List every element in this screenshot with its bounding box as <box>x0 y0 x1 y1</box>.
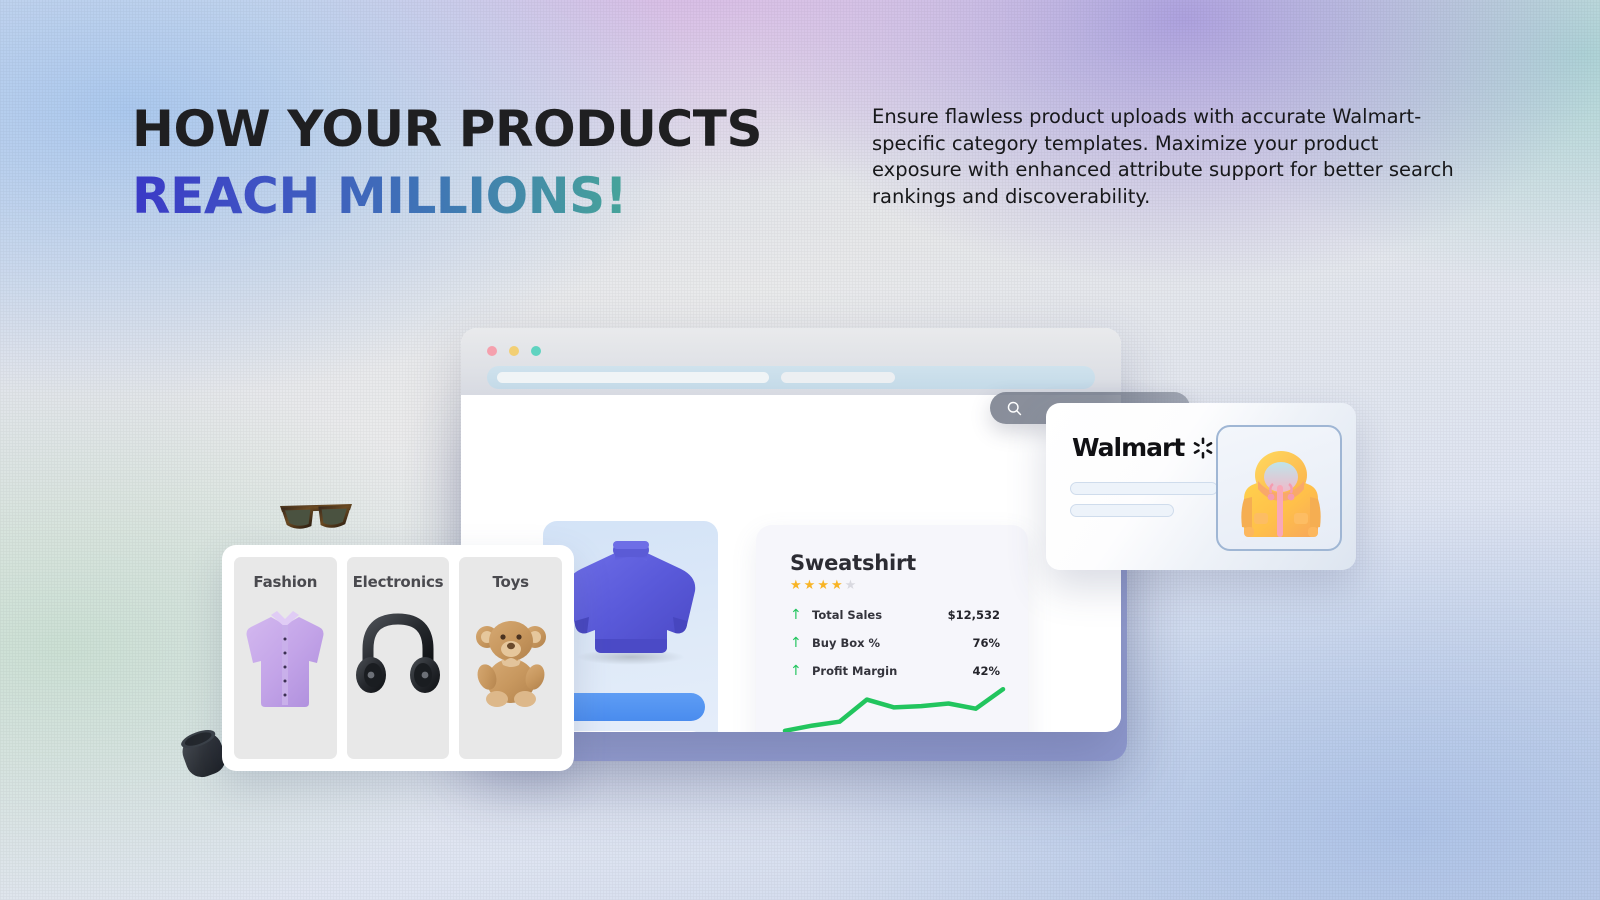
metric-row: ↑ Total Sales $12,532 <box>790 607 1000 623</box>
walmart-logo: Walmart <box>1072 433 1214 462</box>
category-label: Toys <box>492 573 528 591</box>
walmart-spark-icon <box>1192 437 1214 459</box>
metric-value: $12,532 <box>948 608 1000 622</box>
category-tile-toys[interactable]: Toys <box>459 557 562 759</box>
illustration-scene: Sweatshirt ★★★★★ ↑ Total Sales $12,532 ↑… <box>0 0 1600 900</box>
star-filled-2: ★ <box>804 577 818 592</box>
star-empty-5: ★ <box>845 577 859 592</box>
teddy-bear-image <box>465 601 557 711</box>
address-bar-secondary-segment <box>781 372 895 383</box>
skeleton-line-1 <box>1070 482 1218 495</box>
primary-cta-bar[interactable] <box>557 693 705 721</box>
metric-row: ↑ Buy Box % 76% <box>790 635 1000 651</box>
secondary-cta-bar[interactable] <box>557 731 705 732</box>
metric-label: Buy Box % <box>812 636 972 650</box>
address-bar-url-segment <box>497 372 769 383</box>
window-controls[interactable] <box>487 346 541 356</box>
metric-label: Profit Margin <box>812 664 972 678</box>
walmart-wordmark: Walmart <box>1072 433 1184 462</box>
arrow-up-icon: ↑ <box>790 663 812 679</box>
category-label: Electronics <box>353 573 444 591</box>
product-name: Sweatshirt <box>790 551 1000 575</box>
category-tile-fashion[interactable]: Fashion <box>234 557 337 759</box>
sunglasses-icon <box>276 494 356 536</box>
minimize-window-dot[interactable] <box>509 346 519 356</box>
metrics-list: ↑ Total Sales $12,532 ↑ Buy Box % 76% ↑ … <box>790 607 1000 679</box>
browser-chrome <box>461 328 1121 395</box>
metric-value: 42% <box>972 664 1000 678</box>
yellow-raincoat-image <box>1218 427 1342 551</box>
arrow-up-icon: ↑ <box>790 607 812 623</box>
category-label: Fashion <box>253 573 317 591</box>
arrow-up-icon: ↑ <box>790 635 812 651</box>
sales-trend-chart <box>780 679 1008 732</box>
product-stats-card: Sweatshirt ★★★★★ ↑ Total Sales $12,532 ↑… <box>756 525 1028 732</box>
metric-row: ↑ Profit Margin 42% <box>790 663 1000 679</box>
address-bar[interactable] <box>487 366 1095 389</box>
metric-label: Total Sales <box>812 608 948 622</box>
maximize-window-dot[interactable] <box>531 346 541 356</box>
close-window-dot[interactable] <box>487 346 497 356</box>
purple-dress-shirt-image <box>239 601 331 711</box>
skeleton-line-2 <box>1070 504 1174 517</box>
star-filled-1: ★ <box>790 577 804 592</box>
walmart-listing-card: Walmart <box>1046 403 1356 570</box>
search-icon <box>1006 400 1023 417</box>
product-thumbnail-frame <box>1216 425 1342 551</box>
star-filled-3: ★ <box>817 577 831 592</box>
rating-stars: ★★★★★ <box>790 578 1000 591</box>
metric-value: 76% <box>972 636 1000 650</box>
category-tile-electronics[interactable]: Electronics <box>347 557 450 759</box>
listing-skeleton-lines <box>1070 482 1218 526</box>
headphones-image <box>352 601 444 711</box>
category-card-group: Fashion Elec <box>222 545 574 771</box>
star-filled-4: ★ <box>831 577 845 592</box>
blue-sweater-image <box>555 529 707 669</box>
